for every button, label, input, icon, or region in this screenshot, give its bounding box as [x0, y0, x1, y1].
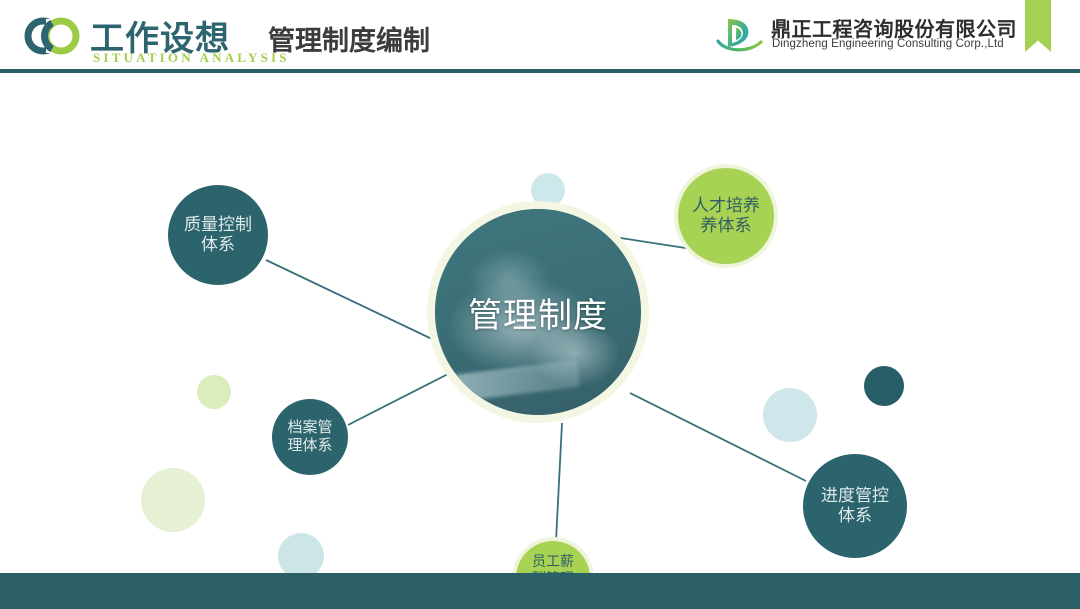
hub-node-inner: 管理制度	[435, 209, 641, 415]
node-archive-management-line1: 档案管	[287, 419, 332, 437]
node-progress-control-line2: 体系	[821, 506, 889, 526]
hub-node-label: 管理制度	[468, 288, 608, 337]
corp-name-en: Dingzheng Engineering Consulting Corp.,L…	[772, 38, 1004, 50]
hub-node-management-system[interactable]: 管理制度	[427, 201, 649, 423]
bookmark-ribbon-icon	[1025, 0, 1051, 52]
node-quality-control[interactable]: 质量控制 体系	[168, 185, 268, 285]
node-quality-control-line1: 质量控制	[184, 215, 252, 235]
node-quality-control-line2: 体系	[184, 235, 252, 255]
page-title: 管理制度编制	[268, 19, 430, 58]
dingzheng-logo-icon	[714, 14, 766, 58]
slide-footer-bar	[0, 573, 1080, 609]
node-talent-development[interactable]: 人才培养 养体系	[678, 168, 774, 264]
node-talent-development-line1: 人才培养	[692, 196, 760, 216]
situation-analysis-logo-icon	[22, 17, 84, 55]
brand-title-en: SITUATION ANALYSIS	[93, 50, 290, 66]
node-talent-development-line2: 养体系	[692, 216, 760, 236]
decor-dot-3	[141, 468, 205, 532]
slide: 工作设想 SITUATION ANALYSIS 管理制度编制	[0, 0, 1080, 609]
node-progress-control-line1: 进度管控	[821, 486, 889, 506]
decor-dot-5	[763, 388, 817, 442]
decor-dot-2	[197, 375, 231, 409]
connector-employee-compensation	[556, 423, 562, 541]
node-progress-control[interactable]: 进度管控 体系	[803, 454, 907, 558]
diagram-canvas: 管理制度 质量控制 体系 人才培养 养体系 档案管 理体系	[0, 73, 1080, 573]
node-employee-compensation-line1: 员工薪	[532, 553, 574, 570]
slide-header: 工作设想 SITUATION ANALYSIS 管理制度编制	[0, 0, 1080, 72]
decor-dot-6	[864, 366, 904, 406]
node-archive-management[interactable]: 档案管 理体系	[272, 399, 348, 475]
node-archive-management-line2: 理体系	[287, 437, 332, 455]
